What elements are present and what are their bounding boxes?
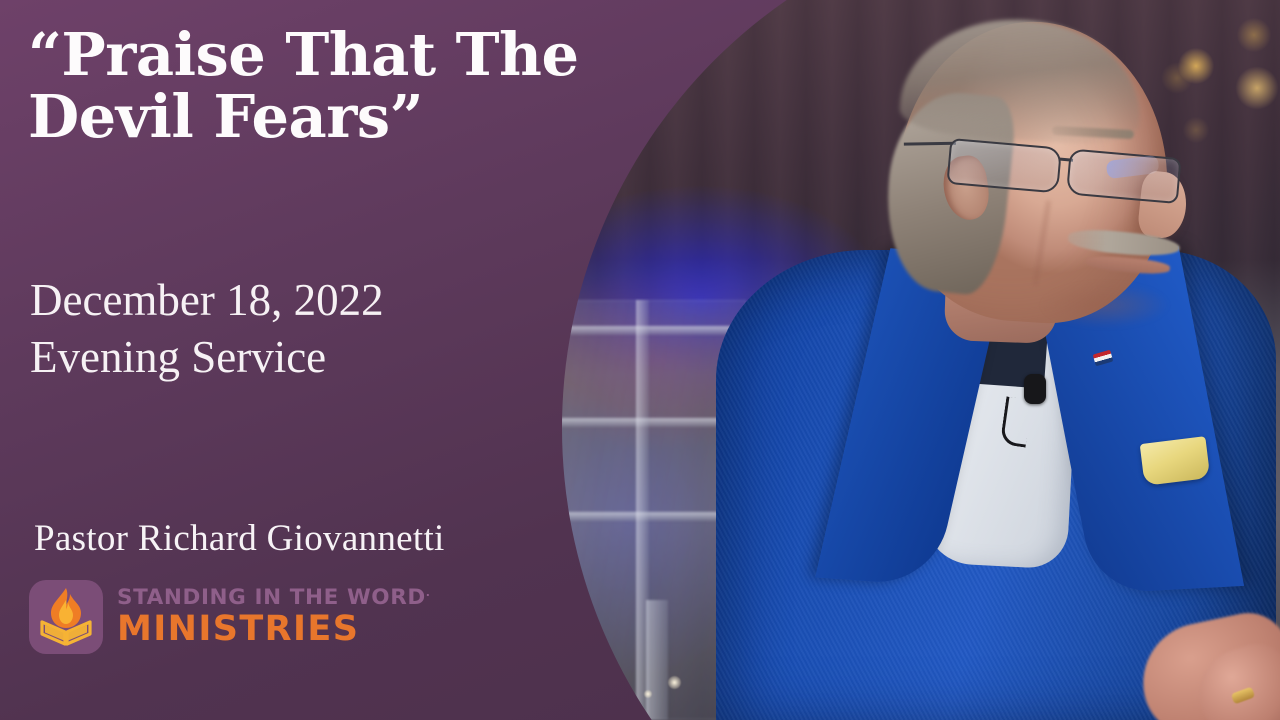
glasses-lens-left (946, 138, 1062, 194)
ministry-logo: STANDING IN THE WORD. MINISTRIES (29, 580, 431, 654)
service-meta: December 18, 2022 Evening Service (30, 272, 650, 385)
logo-registered-mark: . (426, 586, 431, 599)
lavalier-microphone-icon (1024, 374, 1046, 404)
glasses-temple (904, 142, 956, 146)
pocket-square (1140, 436, 1211, 486)
sermon-title-card: “Praise That The Devil Fears” December 1… (0, 0, 1280, 720)
service-date: December 18, 2022 (30, 272, 650, 329)
speaker-name: Pastor Richard Giovannetti (34, 517, 445, 560)
logo-wordmark: STANDING IN THE WORD. MINISTRIES (117, 587, 431, 647)
flame-over-open-book-icon (29, 580, 103, 654)
logo-tagline-text: STANDING IN THE WORD (117, 585, 426, 610)
sermon-title: “Praise That The Devil Fears” (28, 24, 688, 148)
chin-shadow (1040, 282, 1170, 328)
logo-tagline: STANDING IN THE WORD. (117, 587, 431, 609)
logo-ministries-text: MINISTRIES (117, 612, 431, 647)
service-name: Evening Service (30, 329, 650, 386)
